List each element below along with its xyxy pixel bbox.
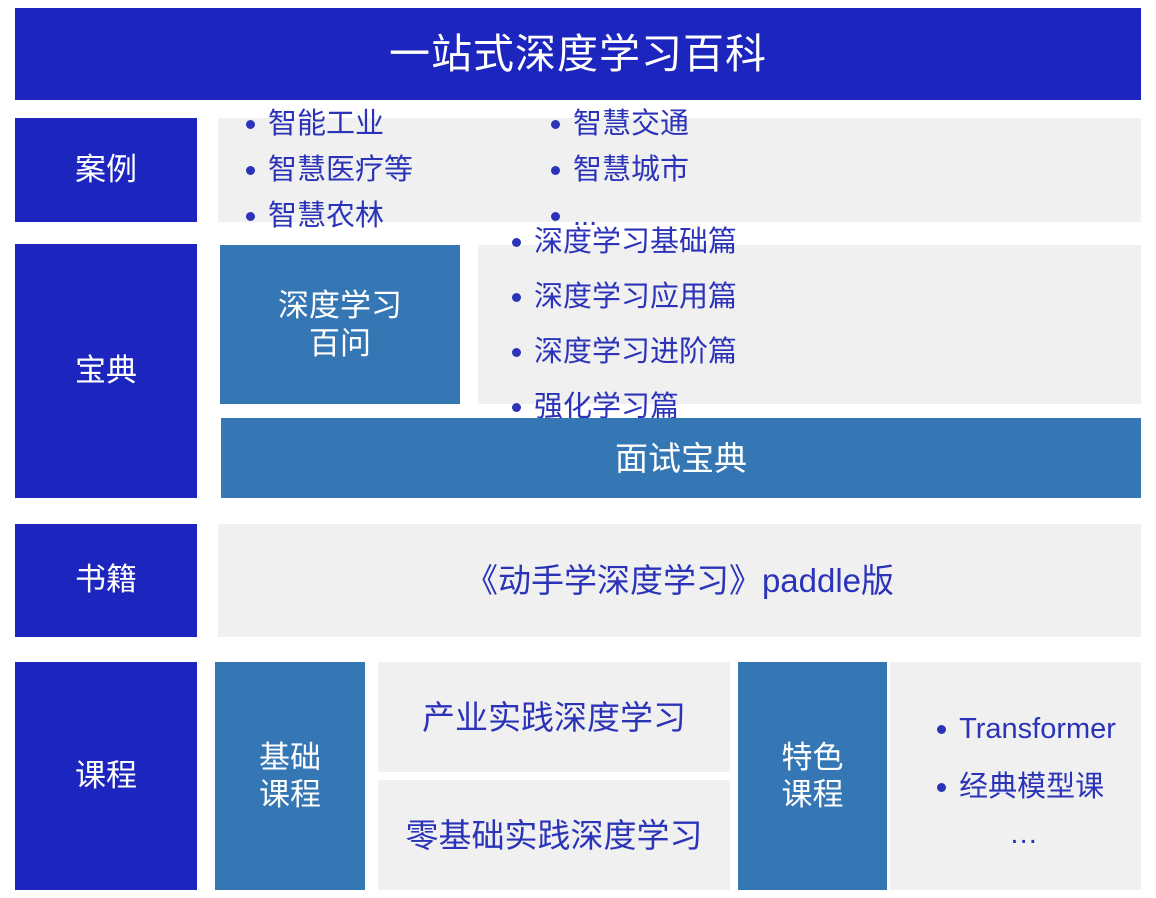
baodian-panel: 深度学习基础篇 深度学习应用篇 深度学习进阶篇 强化学习篇 — [478, 245, 1141, 404]
bullet-dot-icon — [246, 166, 255, 175]
courses-special-bullet-list: Transformer 经典模型课 … — [890, 662, 1141, 890]
list-item-label: 智慧交通 — [573, 110, 689, 139]
row-label-courses-text: 课程 — [75, 758, 137, 795]
list-item[interactable]: 智慧农林 — [246, 193, 551, 239]
row-label-baodian[interactable]: 宝典 — [15, 244, 197, 498]
courses-basic-item-2-label: 零基础实践深度学习 — [406, 819, 703, 852]
case-bullet-list: 智能工业 智慧交通 智慧医疗等 智慧城市 智慧农林 ... — [218, 118, 1141, 222]
list-item[interactable]: Transformer — [937, 700, 1116, 758]
list-item[interactable]: 智慧交通 — [551, 101, 856, 147]
bullet-dot-icon — [512, 238, 521, 247]
deep-learning-encyclopedia-diagram: 一站式深度学习百科 案例 智能工业 智慧交通 智慧医疗等 智慧城市 — [0, 0, 1156, 898]
list-item[interactable]: 深度学习进阶篇 — [512, 325, 837, 380]
list-item-label: 智慧城市 — [573, 156, 689, 185]
courses-basic-item-1-label: 产业实践深度学习 — [422, 701, 686, 734]
courses-basic-item-1[interactable]: 产业实践深度学习 — [378, 662, 730, 772]
page-title-bar: 一站式深度学习百科 — [15, 8, 1141, 100]
row-label-books[interactable]: 书籍 — [15, 524, 197, 637]
list-item-label: 智慧医疗等 — [268, 156, 413, 185]
row-label-baodian-text: 宝典 — [75, 353, 137, 390]
list-item[interactable]: 经典模型课 — [937, 758, 1116, 816]
list-item-label: 经典模型课 — [959, 773, 1104, 802]
baodian-bullet-list: 深度学习基础篇 深度学习应用篇 深度学习进阶篇 强化学习篇 — [478, 245, 1141, 404]
courses-basic-card[interactable]: 基础 课程 — [215, 662, 365, 890]
page-title: 一站式深度学习百科 — [389, 34, 767, 75]
bullet-dot-icon — [246, 212, 255, 221]
courses-special-panel: Transformer 经典模型课 … — [890, 662, 1141, 890]
courses-special-card[interactable]: 特色 课程 — [738, 662, 887, 890]
baodian-interview-banner[interactable]: 面试宝典 — [221, 418, 1141, 498]
book-title: 《动手学深度学习》paddle版 — [465, 564, 894, 597]
list-item[interactable]: 智慧城市 — [551, 147, 856, 193]
row-label-case[interactable]: 案例 — [15, 118, 197, 222]
list-item-label: 智慧农林 — [268, 202, 384, 231]
courses-special-more: … — [937, 816, 1116, 852]
bullet-dot-icon — [937, 783, 946, 792]
bullet-dot-icon — [512, 293, 521, 302]
list-item-label: 深度学习基础篇 — [534, 228, 737, 257]
list-item[interactable]: 智慧医疗等 — [246, 147, 551, 193]
courses-special-label: 特色 课程 — [782, 739, 844, 813]
list-item-label: 深度学习应用篇 — [534, 283, 737, 312]
bullet-dot-icon — [512, 348, 521, 357]
bullet-dot-icon — [551, 166, 560, 175]
list-item-label: Transformer — [959, 715, 1116, 744]
courses-basic-item-2[interactable]: 零基础实践深度学习 — [378, 780, 730, 890]
books-panel[interactable]: 《动手学深度学习》paddle版 — [218, 524, 1141, 637]
baodian-hundred-questions-label: 深度学习 百问 — [278, 287, 402, 361]
list-item-label: 智能工业 — [268, 110, 384, 139]
bullet-dot-icon — [551, 120, 560, 129]
row-label-books-text: 书籍 — [75, 562, 137, 599]
baodian-hundred-questions-card[interactable]: 深度学习 百问 — [220, 245, 460, 404]
row-label-courses[interactable]: 课程 — [15, 662, 197, 890]
bullet-dot-icon — [512, 403, 521, 412]
list-item[interactable]: 深度学习基础篇 — [512, 215, 837, 270]
list-item[interactable]: 智能工业 — [246, 101, 551, 147]
list-item-label: 深度学习进阶篇 — [534, 338, 737, 367]
courses-basic-label: 基础 课程 — [259, 739, 321, 813]
baodian-interview-banner-label: 面试宝典 — [615, 442, 747, 475]
case-panel: 智能工业 智慧交通 智慧医疗等 智慧城市 智慧农林 ... — [218, 118, 1141, 222]
bullet-dot-icon — [246, 120, 255, 129]
row-label-case-text: 案例 — [75, 152, 137, 189]
list-item[interactable]: 深度学习应用篇 — [512, 270, 837, 325]
bullet-dot-icon — [937, 725, 946, 734]
